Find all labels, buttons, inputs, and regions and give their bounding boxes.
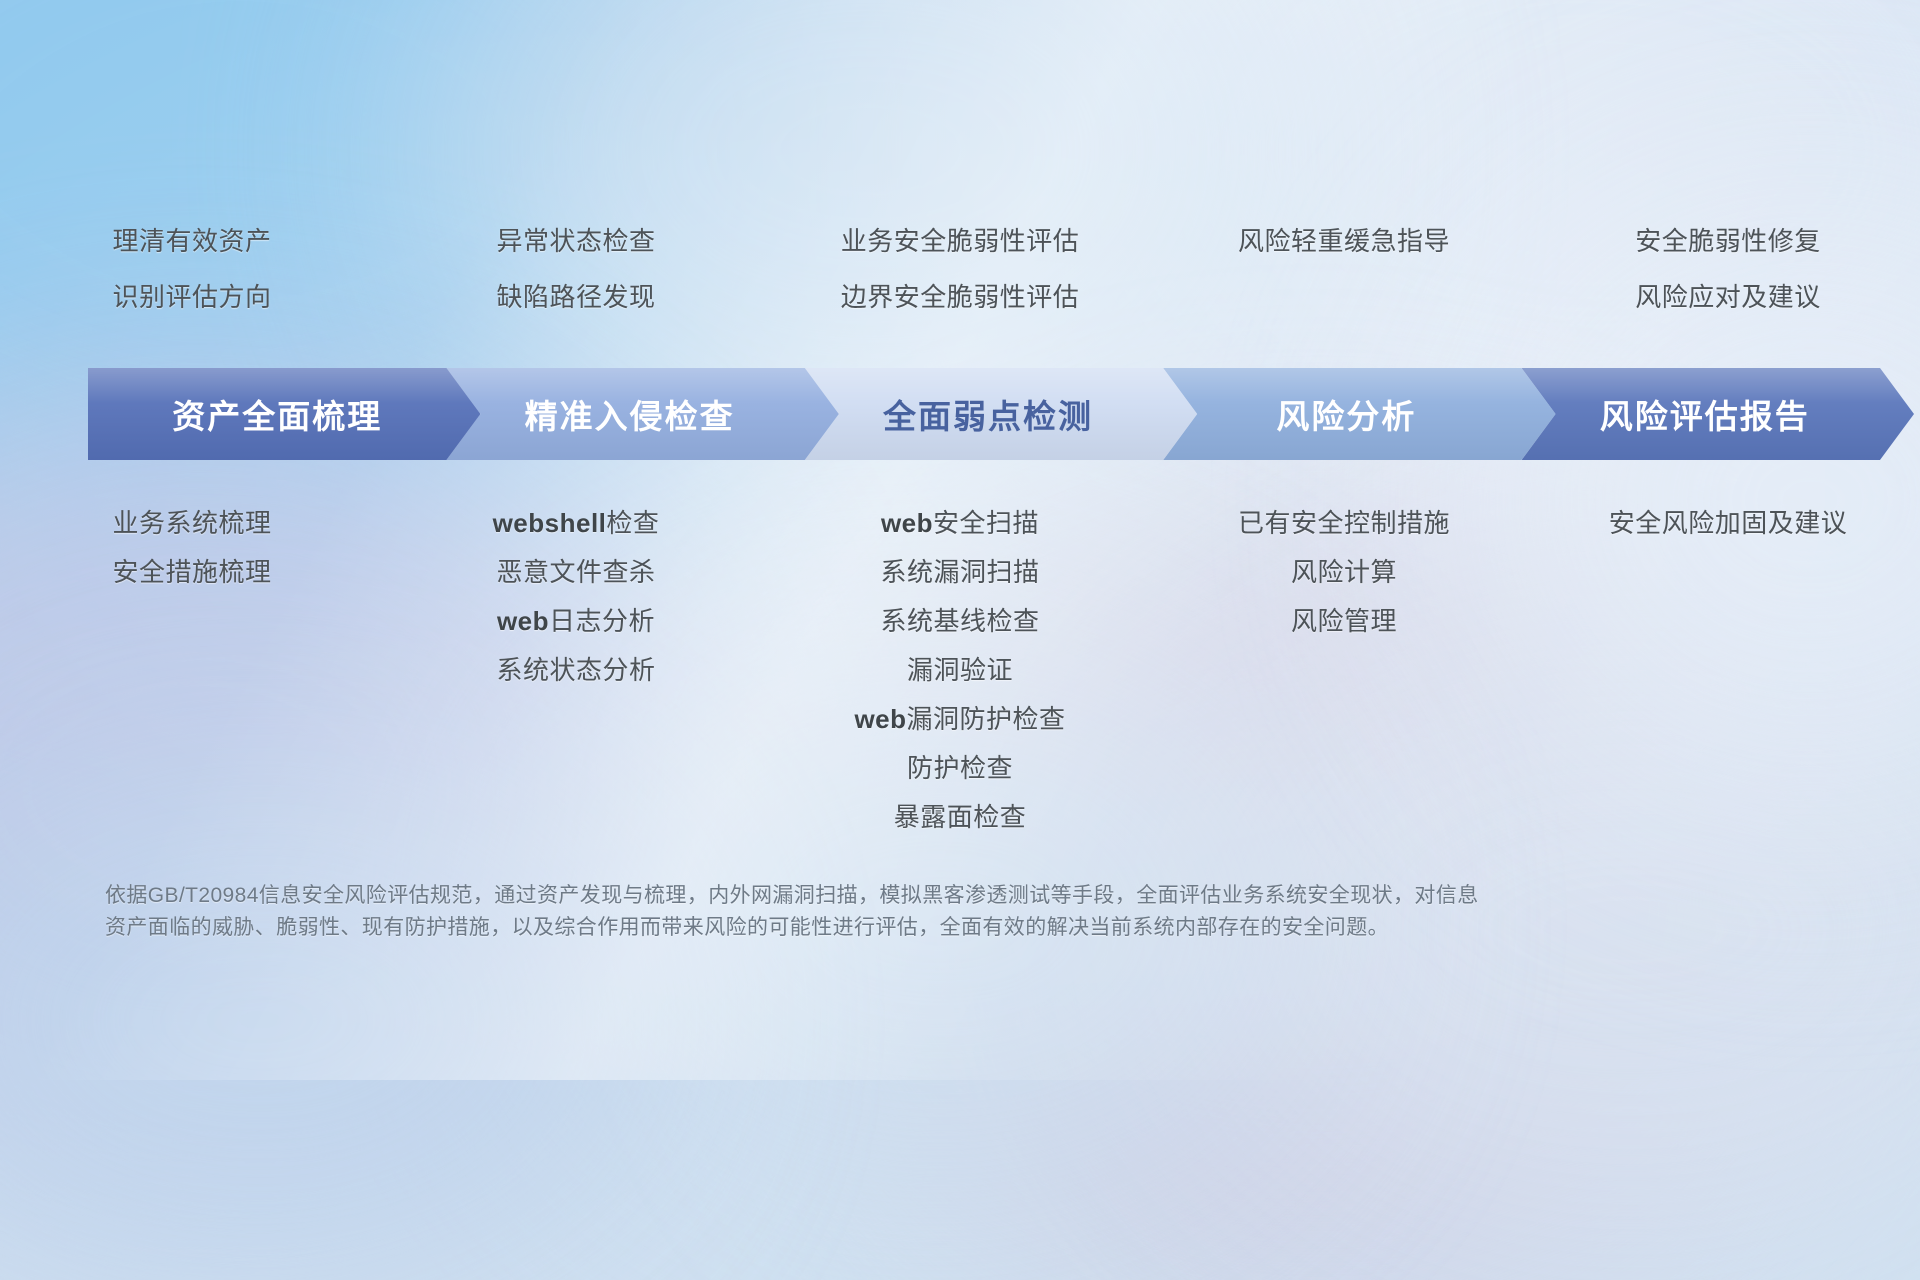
task-item: 漏洞验证 — [907, 657, 1013, 683]
task-item: 暴露面检查 — [894, 804, 1027, 830]
output-item: 风险轻重缓急指导 — [1238, 228, 1450, 254]
output-item: 缺陷路径发现 — [496, 284, 655, 310]
step-outputs-risk-analysis: 风险轻重缓急指导 — [1152, 228, 1536, 284]
process-flow-banner: 资产全面梳理精准入侵检查全面弱点检测风险分析风险评估报告 — [88, 368, 1880, 460]
process-step-label: 风险评估报告 — [1522, 390, 1914, 438]
step-outputs-intrusion-check: 异常状态检查缺陷路径发现 — [384, 228, 768, 340]
task-item: 业务系统梳理 — [112, 510, 271, 536]
task-item: 风险管理 — [1291, 608, 1397, 634]
process-step-asset-inventory[interactable]: 资产全面梳理 — [88, 368, 480, 460]
output-item: 风险应对及建议 — [1635, 284, 1821, 310]
process-step-label: 全面弱点检测 — [805, 390, 1197, 438]
step-tasks-risk-report: 安全风险加固及建议 — [1536, 510, 1920, 559]
output-item: 异常状态检查 — [496, 228, 655, 254]
task-item: 安全风险加固及建议 — [1609, 510, 1848, 536]
task-item: 系统漏洞扫描 — [880, 559, 1039, 585]
step-outputs-risk-report: 安全脆弱性修复风险应对及建议 — [1536, 228, 1920, 340]
step-tasks-asset-inventory: 业务系统梳理安全措施梳理 — [0, 510, 384, 608]
task-item: 安全措施梳理 — [112, 559, 271, 585]
output-item: 理清有效资产 — [112, 228, 271, 254]
step-tasks-row: 业务系统梳理安全措施梳理webshell检查恶意文件查杀web日志分析系统状态分… — [0, 510, 1920, 853]
task-item: web漏洞防护检查 — [854, 706, 1065, 732]
task-item: web日志分析 — [497, 608, 655, 634]
task-item: 系统基线检查 — [880, 608, 1039, 634]
step-outputs-weakness-detection: 业务安全脆弱性评估边界安全脆弱性评估 — [768, 228, 1152, 340]
process-step-label: 风险分析 — [1163, 390, 1555, 438]
process-step-risk-analysis[interactable]: 风险分析 — [1163, 368, 1555, 460]
process-step-intrusion-check[interactable]: 精准入侵检查 — [446, 368, 838, 460]
task-item: webshell检查 — [493, 510, 660, 536]
output-item: 边界安全脆弱性评估 — [841, 284, 1080, 310]
step-outputs-asset-inventory: 理清有效资产识别评估方向 — [0, 228, 384, 340]
task-item: 恶意文件查杀 — [496, 559, 655, 585]
output-item: 业务安全脆弱性评估 — [841, 228, 1080, 254]
process-step-risk-report[interactable]: 风险评估报告 — [1522, 368, 1914, 460]
process-step-label: 精准入侵检查 — [446, 390, 838, 438]
task-item: 已有安全控制措施 — [1238, 510, 1450, 536]
step-tasks-intrusion-check: webshell检查恶意文件查杀web日志分析系统状态分析 — [384, 510, 768, 706]
task-item: web安全扫描 — [881, 510, 1039, 536]
step-outputs-row: 理清有效资产识别评估方向异常状态检查缺陷路径发现业务安全脆弱性评估边界安全脆弱性… — [0, 228, 1920, 340]
task-item: 风险计算 — [1291, 559, 1397, 585]
output-item: 安全脆弱性修复 — [1635, 228, 1821, 254]
process-step-label: 资产全面梳理 — [88, 390, 480, 438]
output-item: 识别评估方向 — [112, 284, 271, 310]
task-item: 防护检查 — [907, 755, 1013, 781]
step-tasks-weakness-detection: web安全扫描系统漏洞扫描系统基线检查漏洞验证web漏洞防护检查防护检查暴露面检… — [768, 510, 1152, 853]
footer-line-1: 依据GB/T20984信息安全风险评估规范，通过资产发现与梳理，内外网漏洞扫描，… — [105, 880, 1665, 912]
footer-description: 依据GB/T20984信息安全风险评估规范，通过资产发现与梳理，内外网漏洞扫描，… — [105, 880, 1665, 944]
step-tasks-risk-analysis: 已有安全控制措施风险计算风险管理 — [1152, 510, 1536, 657]
process-step-weakness-detection[interactable]: 全面弱点检测 — [805, 368, 1197, 460]
footer-line-2: 资产面临的威胁、脆弱性、现有防护措施，以及综合作用而带来风险的可能性进行评估，全… — [105, 912, 1665, 944]
task-item: 系统状态分析 — [496, 657, 655, 683]
